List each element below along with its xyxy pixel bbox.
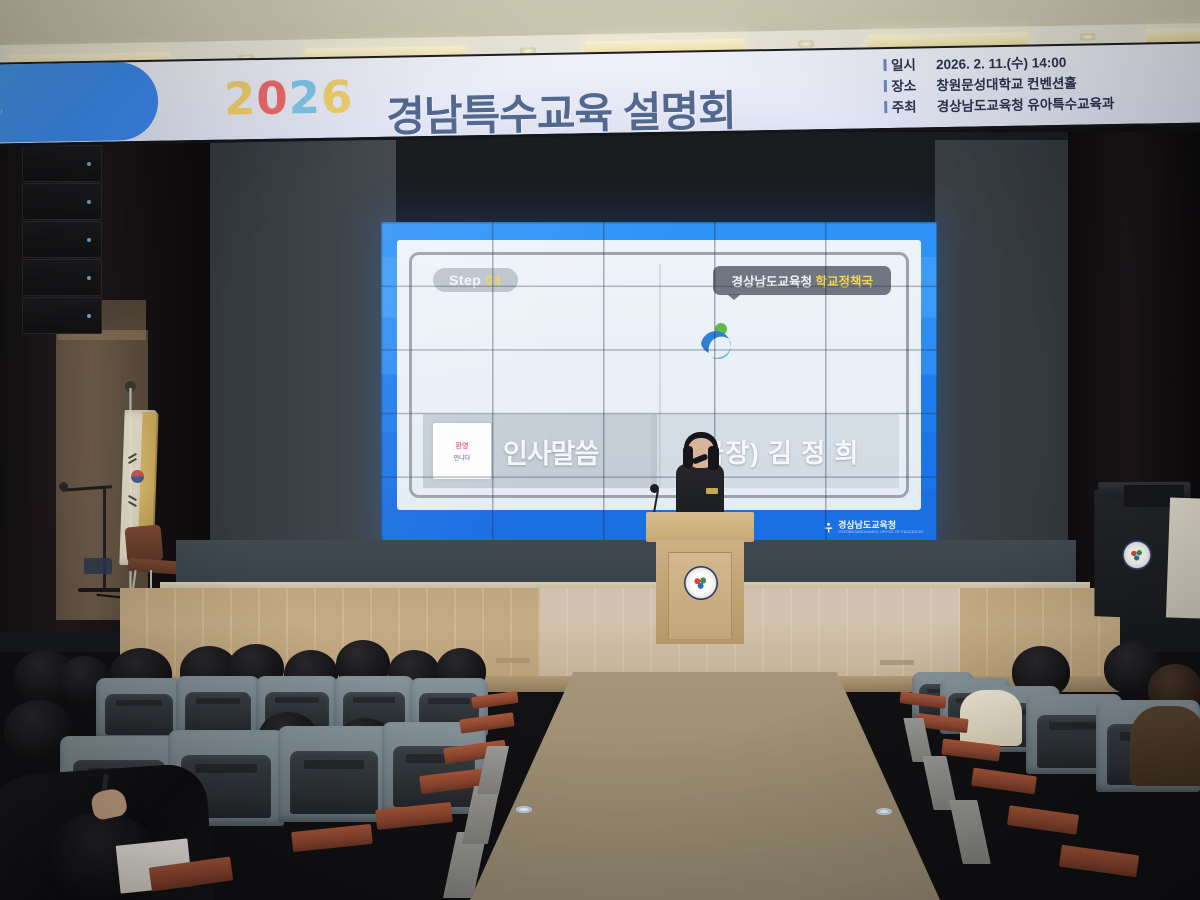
banner-info-bullet [884,101,887,113]
speaker-cabinet [22,259,102,296]
banner-year-digit-2: 0 [256,71,289,125]
department-badge: 경상남도교육청 학교정책국 [713,266,891,295]
slide-footer-logo: 경상남도교육청 GYEONGSANGNAMDO OFFICE OF EDUCAT… [823,521,923,534]
greeting-card-line2: 만나다 [454,453,471,462]
speaker-cabinet [22,183,102,220]
seat-back-shell [185,692,251,733]
auditorium-photo: Step 01 환영 만나다 인사말씀 경상남도교육청 학교정책국 [0,0,1200,900]
banner-info-value: 창원문성대학교 컨벤션홀 [936,74,1077,97]
slide-footer-logo-sub: GYEONGSANGNAMDO OFFICE OF EDUCATION [838,530,923,534]
seat-shell-slot [275,697,318,703]
stage-floor-vent [496,658,530,663]
acoustic-wall-panel-left [196,140,396,580]
audience-shoulders [960,690,1022,746]
banner-info-bullet [883,59,886,71]
speaker-name: 김 정 희 [768,438,859,468]
gyeongnam-education-logo-icon [693,320,739,366]
stage-front-wall [176,540,1076,586]
seat-back-shell [290,751,377,814]
greeting-thumbnail-card: 환영 만나다 [433,423,491,479]
presenter-hair-side-right [708,446,719,470]
slide-footer-logo-text: 경상남도교육청 [838,521,923,530]
ceiling-spot-light [798,40,814,47]
speaker-led [87,276,91,280]
banner-info-value: 2026. 2. 11.(수) 14:00 [936,53,1067,76]
podium-top-surface [646,512,754,542]
banner-title: 경남특수교육 설명회 [386,77,736,144]
stage-floor-vent [880,660,914,665]
greeting-title: 인사말씀 [503,432,598,471]
step-badge: Step 01 [433,268,518,292]
line-array-speaker-stack [22,145,102,345]
seat-shell-slot [353,697,395,703]
aisle-floor-light [516,806,532,813]
speaker-led [87,314,91,318]
mic-stand-pole [103,488,106,590]
audience-seat [278,726,390,822]
slide-content-area: Step 01 환영 만나다 인사말씀 경상남도교육청 학교정책국 [397,240,921,510]
podium-seal-emblem-detail [692,574,710,592]
banner-info-key: 장소 [891,76,929,98]
speaker-cabinet [22,297,102,334]
step-number: 01 [486,272,503,288]
accessibility-icon [823,522,834,533]
banner-info-key: 주최 [892,97,930,119]
audience-seat [96,678,182,740]
seat-pedestal [949,800,991,864]
audience-seat [176,676,260,738]
presenter-name-badge [706,488,718,494]
speaker-led [87,162,91,166]
seat-writing-tablet [1059,845,1139,878]
microphone-head [59,482,68,491]
banner-year: 2026 [224,70,354,125]
banner-info-value: 경상남도교육청 유아특수교육과 [937,94,1115,118]
presentation-video-wall[interactable]: Step 01 환영 만나다 인사말씀 경상남도교육청 학교정책국 [381,222,937,540]
seat-shell-slot [304,760,363,769]
banner-year-digit-4: 6 [320,70,353,124]
wooden-podium [650,512,750,650]
seat-writing-tablet [291,824,373,852]
acoustic-wall-panel-right [935,140,1075,580]
seat-shell-slot [428,698,469,703]
greeting-row: 환영 만나다 인사말씀 [423,414,657,488]
seat-writing-tablet [1007,805,1079,835]
side-lectern-paper [1166,497,1200,618]
seat-shell-slot [195,764,257,773]
taeguk-symbol [131,470,144,483]
step-label: Step [449,272,481,288]
department-prefix: 경상남도교육청 [731,275,812,289]
banner-info-key: 일시 [891,55,929,77]
seat-back-shell [105,694,172,735]
speaker-led [87,238,91,242]
audience-shoulders [1130,706,1200,786]
aisle-floor-light [876,808,892,815]
seat-shell-slot [1049,722,1100,729]
speaker-cabinet [22,145,102,182]
department-highlight: 학교정책국 [815,275,873,289]
banner-info-bullet [884,80,887,92]
banner-org-logo-icon [0,86,12,127]
banner-info-block: 일시 2026. 2. 11.(수) 14:00 장소 창원문성대학교 컨벤션홀… [883,51,1184,119]
center-aisle [470,672,940,900]
speaker-led [87,200,91,204]
stage-floor-light-pool [540,588,960,682]
banner-year-digit-3: 2 [288,71,321,125]
ceiling-spot-light [1080,33,1096,40]
banner-year-digit-1: 2 [224,72,257,126]
wall-outlet-panel [84,558,112,574]
speaker-cabinet [22,221,102,258]
greeting-card-line1: 환영 [456,441,469,451]
side-lectern-seal-detail [1129,547,1145,563]
presenter-hair-side-left [683,446,693,468]
seat-shell-slot [196,698,241,704]
seat-shell-slot [116,700,162,706]
banner-blue-panel [0,62,159,143]
greeting-card-text: 환영 만나다 [433,423,491,479]
